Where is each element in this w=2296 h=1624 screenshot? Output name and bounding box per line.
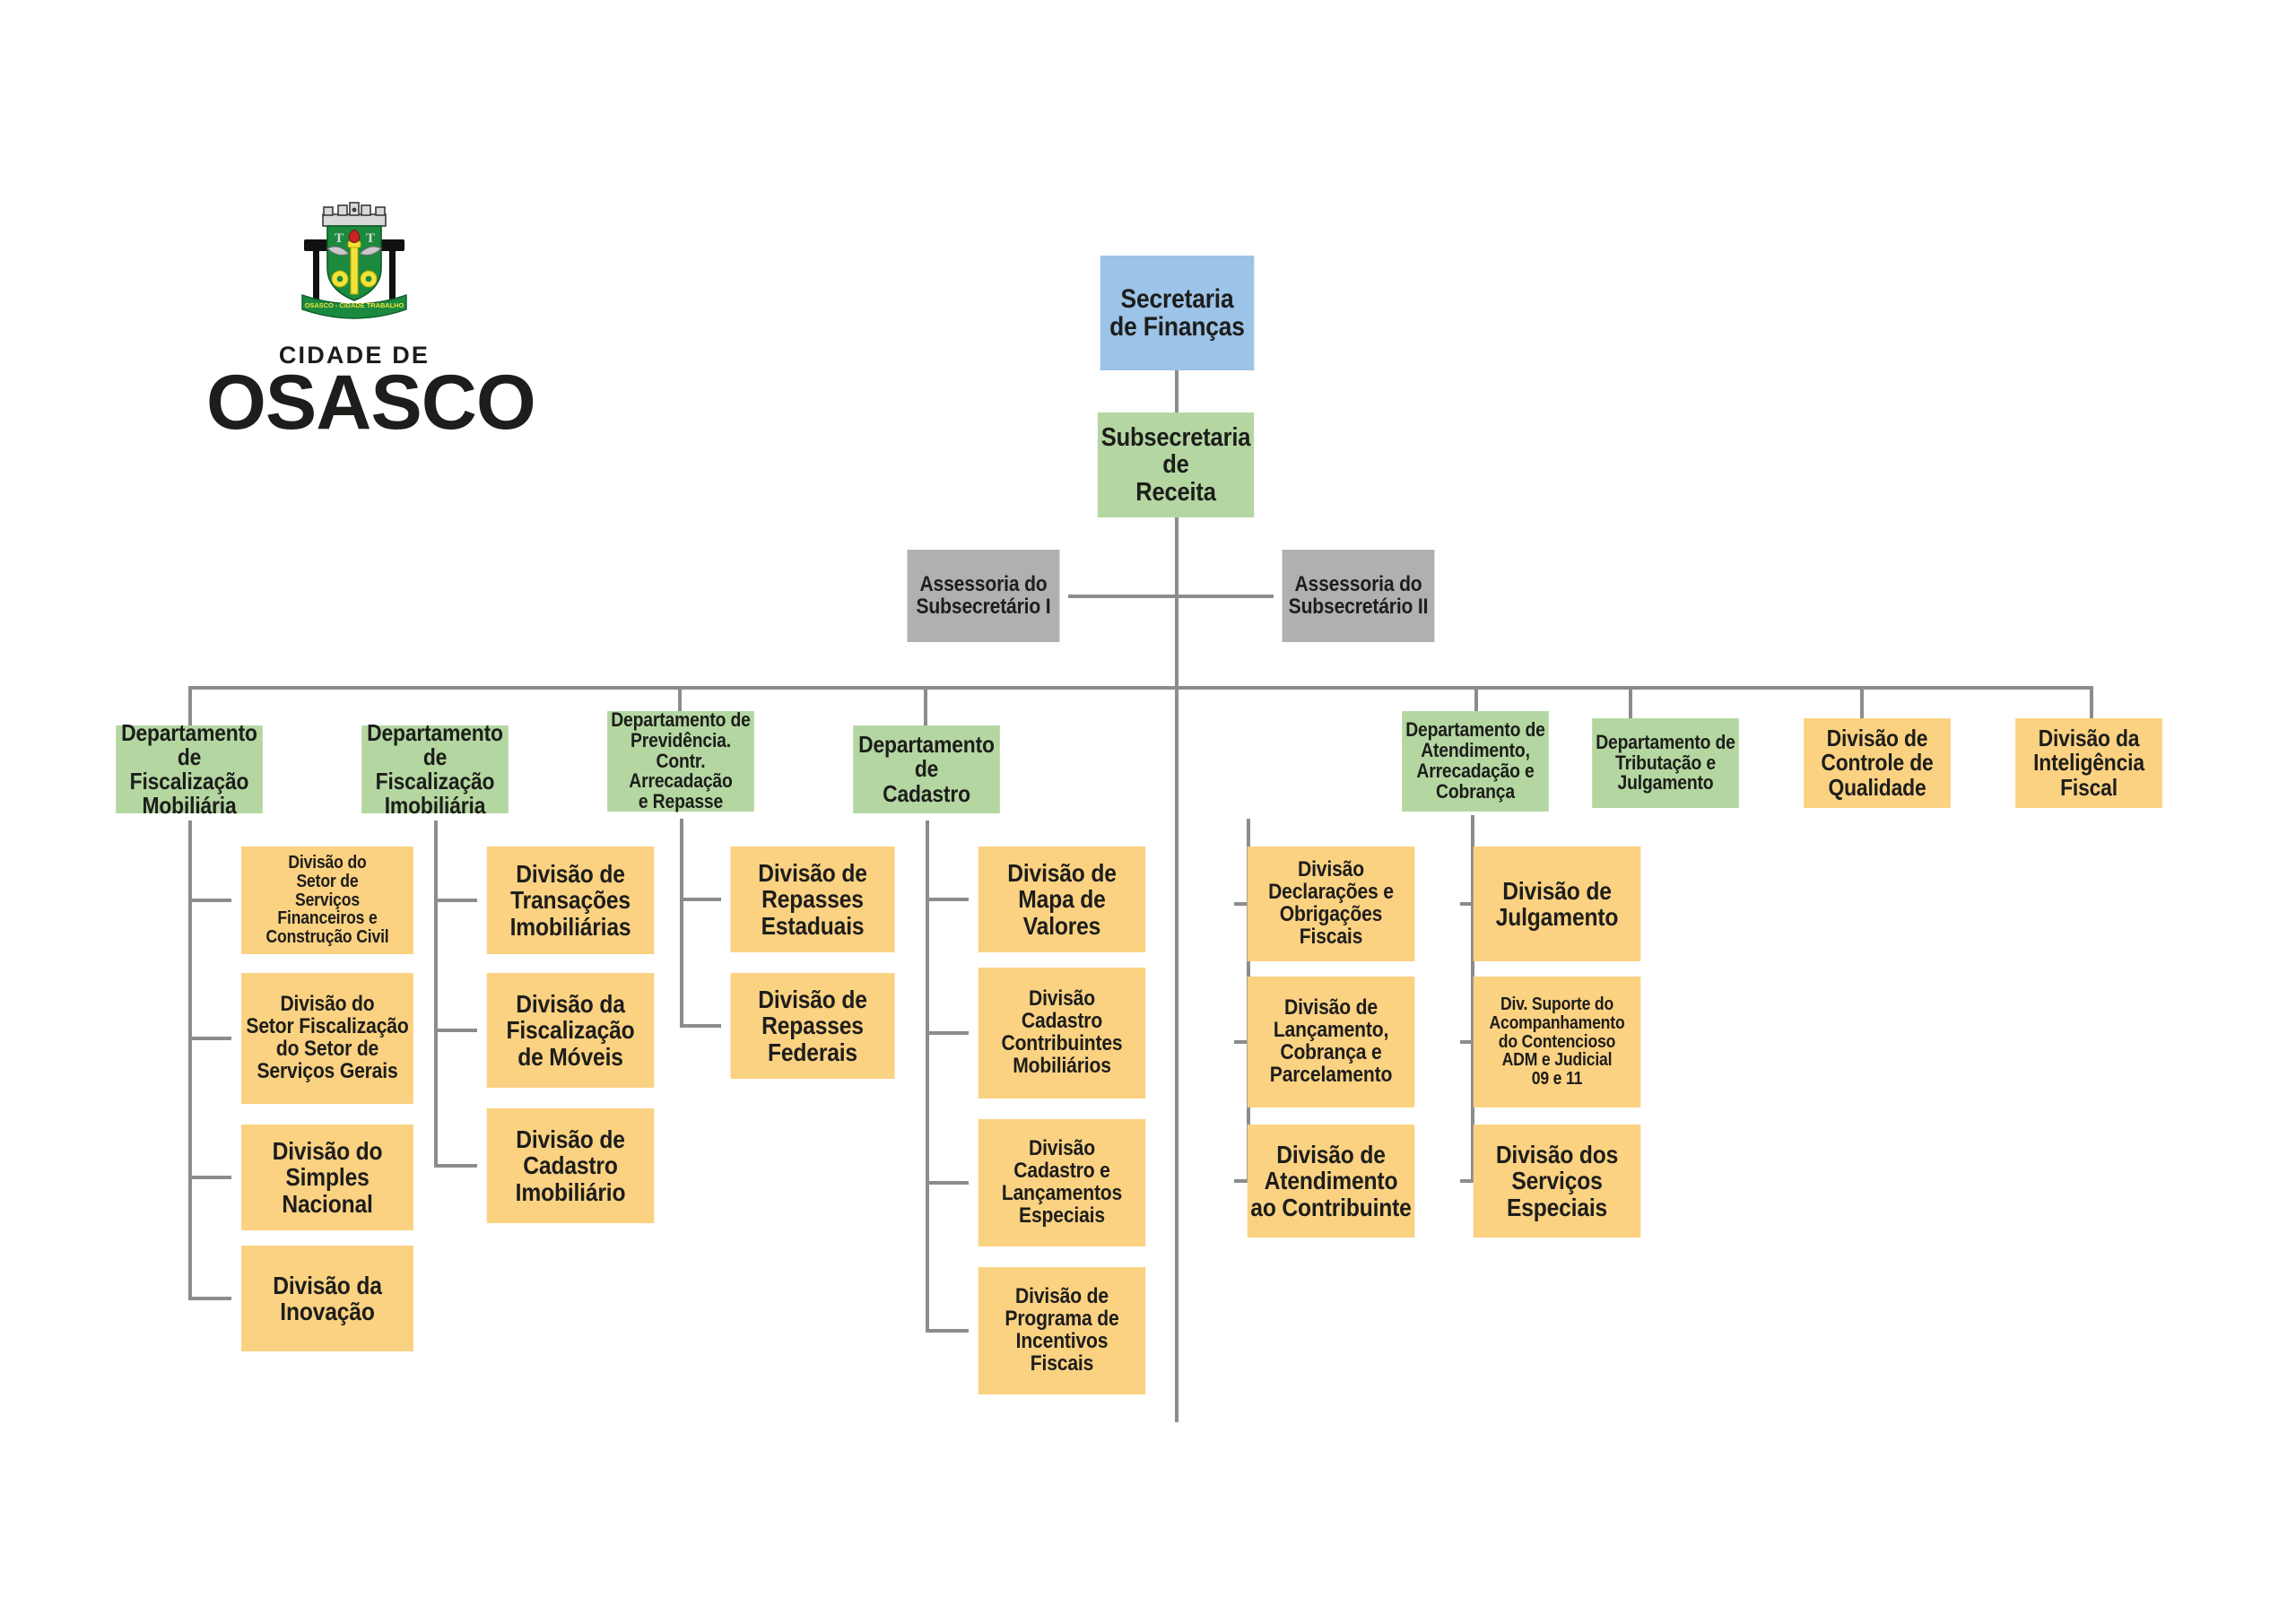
division-stub-previdencia-0 <box>680 898 721 901</box>
node-secretaria-de-financas[interactable]: Secretariade Finanças <box>1100 256 1255 370</box>
node-label: Divisão daInovação <box>245 1272 411 1324</box>
node-fiscalizacao-imobiliaria-division-1[interactable]: Divisão daFiscalizaçãode Móveis <box>487 973 655 1088</box>
node-subsecretaria-de-receita[interactable]: Subsecretaria deReceita <box>1098 413 1254 517</box>
node-label: Departamento deCadastro <box>857 733 997 805</box>
node-fiscalizacao-mobiliaria-division-3[interactable]: Divisão daInovação <box>241 1246 413 1351</box>
node-label: Departamento dePrevidência. Contr.Arreca… <box>611 710 752 812</box>
node-atendimento-division-2[interactable]: Divisão deAtendimentoao Contribuinte <box>1248 1125 1415 1238</box>
connector-main-trunk <box>1175 517 1178 1422</box>
node-controle-qualidade[interactable]: Divisão deControle deQualidade <box>1804 718 1951 808</box>
division-stub-fiscalizacao-mobiliaria-0 <box>188 899 231 902</box>
node-label: Divisão deRepassesFederais <box>734 986 891 1064</box>
node-label: Subsecretaria deReceita <box>1100 424 1250 505</box>
node-previdencia-division-0[interactable]: Divisão deRepassesEstaduais <box>730 847 894 952</box>
division-stub-fiscalizacao-mobiliaria-1 <box>188 1037 231 1040</box>
node-label: Divisão daFiscalizaçãode Móveis <box>490 991 651 1069</box>
node-label: Divisão doSetor deServiçosFinanceiros eC… <box>245 854 411 947</box>
node-label: DivisãoCadastro eLançamentosEspeciais <box>981 1138 1143 1228</box>
node-label: Departamento deAtendimento,Arrecadação e… <box>1405 720 1546 803</box>
node-label: Divisão deTransaçõesImobiliárias <box>490 861 651 939</box>
node-assessoria-subsecretario-i[interactable]: Assessoria doSubsecretário I <box>908 550 1060 642</box>
node-label: Departamento deFiscalizaçãoImobiliária <box>365 721 506 818</box>
osasco-logo: T T OSASCO - CIDADE TRABALHO CIDADE DE O… <box>206 202 502 441</box>
svg-text:T: T <box>366 231 375 246</box>
node-atendimento-division-0[interactable]: DivisãoDeclarações eObrigaçõesFiscais <box>1248 847 1415 961</box>
node-fiscalizacao-imobiliaria[interactable]: Departamento deFiscalizaçãoImobiliária <box>361 725 509 813</box>
node-label: Divisão deControle deQualidade <box>1807 726 1948 799</box>
svg-text:T: T <box>335 231 344 246</box>
osasco-coat-of-arms-icon: T T OSASCO - CIDADE TRABALHO <box>291 202 417 336</box>
division-stub-fiscalizacao-mobiliaria-3 <box>188 1297 231 1300</box>
node-label: Divisão deRepassesEstaduais <box>734 860 891 938</box>
node-label: Divisão dosServiçosEspeciais <box>1476 1142 1638 1220</box>
node-label: Divisão deJulgamento <box>1476 878 1638 930</box>
node-fiscalizacao-mobiliaria-division-1[interactable]: Divisão doSetor Fiscalizaçãodo Setor deS… <box>241 973 413 1104</box>
division-spine-fiscalizacao-imobiliaria <box>434 821 438 1166</box>
node-atendimento[interactable]: Departamento deAtendimento,Arrecadação e… <box>1402 711 1549 812</box>
connector-assessoria-left <box>1068 595 1177 598</box>
node-fiscalizacao-mobiliaria-division-2[interactable]: Divisão doSimplesNacional <box>241 1125 413 1230</box>
node-fiscalizacao-imobiliaria-division-2[interactable]: Divisão deCadastroImobiliário <box>487 1108 655 1223</box>
node-tributacao-division-1[interactable]: Div. Suporte doAcompanhamentodo Contenci… <box>1474 977 1641 1107</box>
node-tributacao[interactable]: Departamento deTributação eJulgamento <box>1592 718 1739 808</box>
division-stub-previdencia-1 <box>680 1024 721 1028</box>
organogram-canvas: T T OSASCO - CIDADE TRABALHO CIDADE DE O… <box>0 0 2296 1624</box>
division-stub-fiscalizacao-mobiliaria-2 <box>188 1176 231 1179</box>
division-stub-fiscalizacao-imobiliaria-1 <box>434 1029 477 1032</box>
node-atendimento-division-1[interactable]: Divisão deLançamento,Cobrança eParcelame… <box>1248 977 1415 1107</box>
node-label: Divisão deMapa deValores <box>981 860 1143 938</box>
node-label: Divisão doSimplesNacional <box>245 1138 411 1216</box>
node-fiscalizacao-imobiliaria-division-0[interactable]: Divisão deTransaçõesImobiliárias <box>487 847 655 954</box>
division-stub-cadastro-3 <box>926 1329 969 1333</box>
node-label: Divisão doSetor Fiscalizaçãodo Setor deS… <box>245 994 411 1083</box>
node-label: DivisãoCadastroContribuintesMobiliários <box>981 988 1143 1078</box>
division-stub-tributacao-2 <box>1460 1179 1474 1183</box>
node-label: DivisãoDeclarações eObrigaçõesFiscais <box>1250 859 1412 949</box>
node-fiscalizacao-mobiliaria-division-0[interactable]: Divisão doSetor deServiçosFinanceiros eC… <box>241 847 413 954</box>
crest-motto: OSASCO - CIDADE TRABALHO <box>305 301 404 309</box>
node-tributacao-division-0[interactable]: Divisão deJulgamento <box>1474 847 1641 961</box>
node-cadastro-division-0[interactable]: Divisão deMapa deValores <box>978 847 1146 952</box>
node-label: Divisão deAtendimentoao Contribuinte <box>1250 1142 1412 1220</box>
node-cadastro-division-3[interactable]: Divisão dePrograma deIncentivosFiscais <box>978 1267 1146 1394</box>
node-label: Assessoria doSubsecretário II <box>1285 574 1431 619</box>
division-spine-previdencia <box>680 819 683 1026</box>
division-stub-cadastro-1 <box>926 1031 969 1035</box>
node-cadastro-division-2[interactable]: DivisãoCadastro eLançamentosEspeciais <box>978 1119 1146 1246</box>
node-label: Divisão deCadastroImobiliário <box>490 1126 651 1204</box>
node-label: Divisão dePrograma deIncentivosFiscais <box>981 1286 1143 1376</box>
division-stub-fiscalizacao-imobiliaria-0 <box>434 899 477 902</box>
logo-osasco: OSASCO <box>206 364 502 441</box>
node-label: Div. Suporte doAcompanhamentodo Contenci… <box>1476 995 1638 1089</box>
node-previdencia-division-1[interactable]: Divisão deRepassesFederais <box>730 973 894 1079</box>
node-inteligencia-fiscal[interactable]: Divisão daInteligênciaFiscal <box>2015 718 2162 808</box>
division-stub-tributacao-1 <box>1460 1040 1474 1044</box>
division-stub-fiscalizacao-imobiliaria-2 <box>434 1164 477 1168</box>
division-spine-fiscalizacao-mobiliaria <box>188 821 192 1298</box>
node-label: Assessoria doSubsecretário I <box>910 574 1057 619</box>
division-stub-tributacao-0 <box>1460 902 1474 906</box>
node-label: Divisão daInteligênciaFiscal <box>2019 726 2160 799</box>
node-label: Divisão deLançamento,Cobrança eParcelame… <box>1250 997 1412 1087</box>
node-cadastro-division-1[interactable]: DivisãoCadastroContribuintesMobiliários <box>978 968 1146 1099</box>
connector-department-bus <box>188 686 2090 690</box>
node-label: Secretariade Finanças <box>1103 285 1251 341</box>
dept-leg-2 <box>924 686 927 725</box>
node-cadastro[interactable]: Departamento deCadastro <box>853 725 1000 813</box>
division-stub-cadastro-2 <box>926 1181 969 1185</box>
node-previdencia[interactable]: Departamento dePrevidência. Contr.Arreca… <box>607 711 754 812</box>
node-fiscalizacao-mobiliaria[interactable]: Departamento deFiscalizaçãoMobiliária <box>116 725 263 813</box>
connector-assessoria-right <box>1175 595 1274 598</box>
connector-secretaria-subsecretaria <box>1175 369 1178 413</box>
division-stub-cadastro-0 <box>926 898 969 901</box>
node-label: Departamento deTributação eJulgamento <box>1596 733 1736 795</box>
node-tributacao-division-2[interactable]: Divisão dosServiçosEspeciais <box>1474 1125 1641 1238</box>
node-assessoria-subsecretario-ii[interactable]: Assessoria doSubsecretário II <box>1283 550 1435 642</box>
node-label: Departamento deFiscalizaçãoMobiliária <box>119 721 260 818</box>
